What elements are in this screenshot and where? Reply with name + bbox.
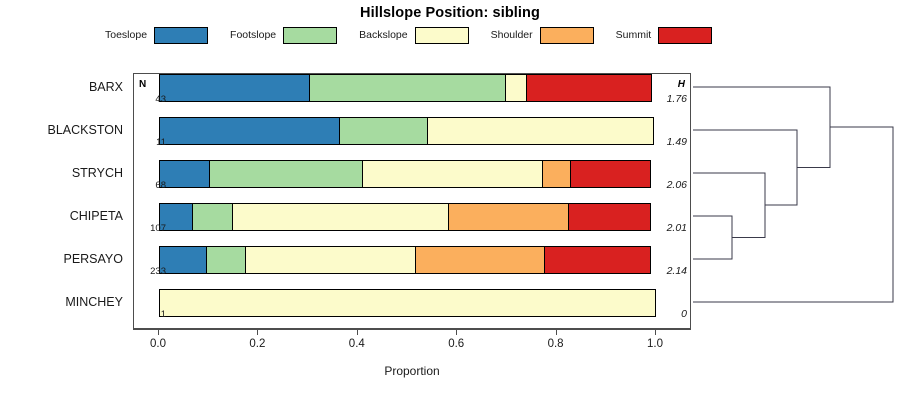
n-value-chipeta: 107 [136, 223, 166, 234]
category-label-blackston: BLACKSTON [0, 123, 123, 137]
bar-segment-shoulder [542, 160, 571, 188]
legend-swatch [415, 27, 469, 44]
bar-segment-summit [544, 246, 651, 274]
bar-segment-toeslope [159, 160, 210, 188]
bar-segment-footslope [209, 160, 363, 188]
legend-item-summit: Summit [616, 26, 735, 44]
column-header-h: H [678, 79, 685, 90]
bar-segment-toeslope [159, 74, 311, 102]
legend-label: Backslope [359, 29, 407, 41]
stacked-bar-chipeta [159, 203, 656, 231]
category-label-barx: BARX [0, 80, 123, 94]
category-label-strych: STRYCH [0, 166, 123, 180]
x-axis-line [133, 329, 691, 330]
x-tick-label: 0.0 [150, 338, 166, 350]
bar-segment-backslope [505, 74, 527, 102]
n-value-persayo: 233 [136, 266, 166, 277]
n-value-strych: 68 [136, 180, 166, 191]
h-value-barx: 1.76 [647, 93, 687, 105]
x-tick [556, 329, 557, 335]
bar-segment-backslope [427, 117, 653, 145]
category-label-persayo: PERSAYO [0, 252, 123, 266]
x-tick-label: 0.2 [249, 338, 265, 350]
column-header-n: N [139, 79, 146, 90]
n-value-barx: 43 [136, 94, 166, 105]
bar-segment-summit [570, 160, 651, 188]
bar-segment-footslope [309, 74, 505, 102]
h-value-strych: 2.06 [647, 179, 687, 191]
x-tick-label: 0.8 [548, 338, 564, 350]
category-label-minchey: MINCHEY [0, 295, 123, 309]
legend-label: Footslope [230, 29, 276, 41]
dendrogram [693, 73, 900, 329]
legend-label: Toeslope [105, 29, 147, 41]
x-tick [655, 329, 656, 335]
bar-segment-footslope [192, 203, 234, 231]
dendro-merge-with-strych [693, 173, 765, 238]
bar-segment-footslope [339, 117, 428, 145]
bar-segment-footslope [206, 246, 246, 274]
x-tick [257, 329, 258, 335]
legend-label: Shoulder [491, 29, 533, 41]
legend-item-footslope: Footslope [230, 26, 359, 44]
bar-segment-backslope [245, 246, 416, 274]
legend-swatch [283, 27, 337, 44]
chart-legend: ToeslopeFootslopeBackslopeShoulderSummit [105, 26, 705, 44]
n-value-blackston: 11 [136, 137, 166, 148]
h-value-minchey: 0 [647, 308, 687, 320]
stacked-bar-persayo [159, 246, 656, 274]
bar-segment-shoulder [415, 246, 546, 274]
x-tick [158, 329, 159, 335]
stacked-bar-strych [159, 160, 656, 188]
legend-swatch [154, 27, 208, 44]
category-label-chipeta: CHIPETA [0, 209, 123, 223]
bar-segment-backslope [232, 203, 449, 231]
dendrogram-svg [693, 73, 900, 329]
dendro-merge-chipeta-persayo [693, 216, 732, 259]
x-tick-label: 0.4 [349, 338, 365, 350]
chart-root: Hillslope Position: sibling ToeslopeFoot… [0, 0, 900, 400]
dendro-merge-with-blackston [693, 130, 797, 205]
stacked-bar-barx [159, 74, 656, 102]
stacked-bar-blackston [159, 117, 656, 145]
x-axis-label: Proportion [133, 364, 691, 378]
x-tick [357, 329, 358, 335]
dendro-merge-root [693, 127, 893, 302]
legend-label: Summit [616, 29, 652, 41]
dendro-merge-with-barx [693, 87, 830, 168]
x-tick-label: 0.6 [448, 338, 464, 350]
x-tick-label: 1.0 [647, 338, 663, 350]
legend-item-backslope: Backslope [359, 26, 490, 44]
bar-segment-summit [526, 74, 653, 102]
n-value-minchey: 1 [136, 309, 166, 320]
h-value-persayo: 2.14 [647, 265, 687, 277]
bar-segment-toeslope [159, 117, 340, 145]
chart-title: Hillslope Position: sibling [0, 5, 900, 21]
bar-segment-backslope [362, 160, 543, 188]
legend-swatch [658, 27, 712, 44]
legend-item-toeslope: Toeslope [105, 26, 230, 44]
bar-segment-shoulder [448, 203, 569, 231]
h-value-blackston: 1.49 [647, 136, 687, 148]
legend-swatch [540, 27, 594, 44]
h-value-chipeta: 2.01 [647, 222, 687, 234]
plot-panel: N H 431.76111.49682.061072.012332.1410 [133, 73, 691, 329]
x-tick [456, 329, 457, 335]
stacked-bar-minchey [159, 289, 656, 317]
bar-segment-backslope [159, 289, 656, 317]
bar-segment-toeslope [159, 246, 207, 274]
legend-item-shoulder: Shoulder [491, 26, 616, 44]
bar-segment-summit [568, 203, 651, 231]
